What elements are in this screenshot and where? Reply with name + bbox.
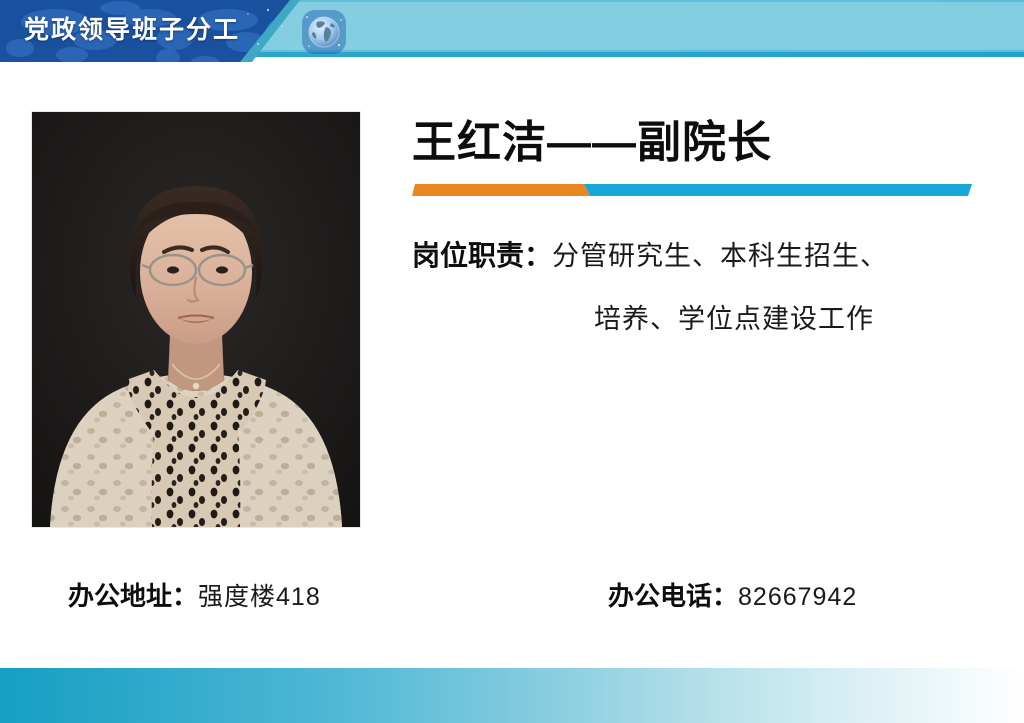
duties-line-1: 岗位职责：分管研究生、本科生招生、 bbox=[412, 232, 992, 280]
duties-text-first: 分管研究生、本科生招生、 bbox=[552, 241, 888, 271]
office-phone: 办公电话：82667942 bbox=[608, 577, 857, 616]
portrait-photo-illustration bbox=[32, 112, 360, 527]
office-address: 办公地址：强度楼418 bbox=[68, 577, 321, 616]
duties-block: 岗位职责：分管研究生、本科生招生、 培养、学位点建设工作 bbox=[412, 232, 992, 343]
page-title: 王红洁——副院长 bbox=[412, 112, 772, 174]
office-phone-label: 办公电话： bbox=[608, 581, 738, 611]
accent-divider bbox=[412, 182, 972, 198]
office-phone-value: 82667942 bbox=[738, 583, 857, 611]
duties-line-2: 培养、学位点建设工作 bbox=[412, 296, 992, 343]
globe-icon bbox=[300, 8, 348, 56]
header-title: 党政领导班子分工 bbox=[24, 13, 240, 47]
office-address-label: 办公地址： bbox=[68, 581, 198, 611]
divider-orange-segment bbox=[412, 184, 590, 196]
portrait-photo bbox=[32, 112, 360, 527]
divider-blue-segment bbox=[584, 184, 972, 196]
duties-label: 岗位职责： bbox=[412, 240, 552, 271]
header-banner: 党政领导班子分工 bbox=[0, 0, 1024, 72]
office-address-value: 强度楼418 bbox=[198, 583, 321, 611]
footer-gradient-bar bbox=[0, 668, 1024, 723]
